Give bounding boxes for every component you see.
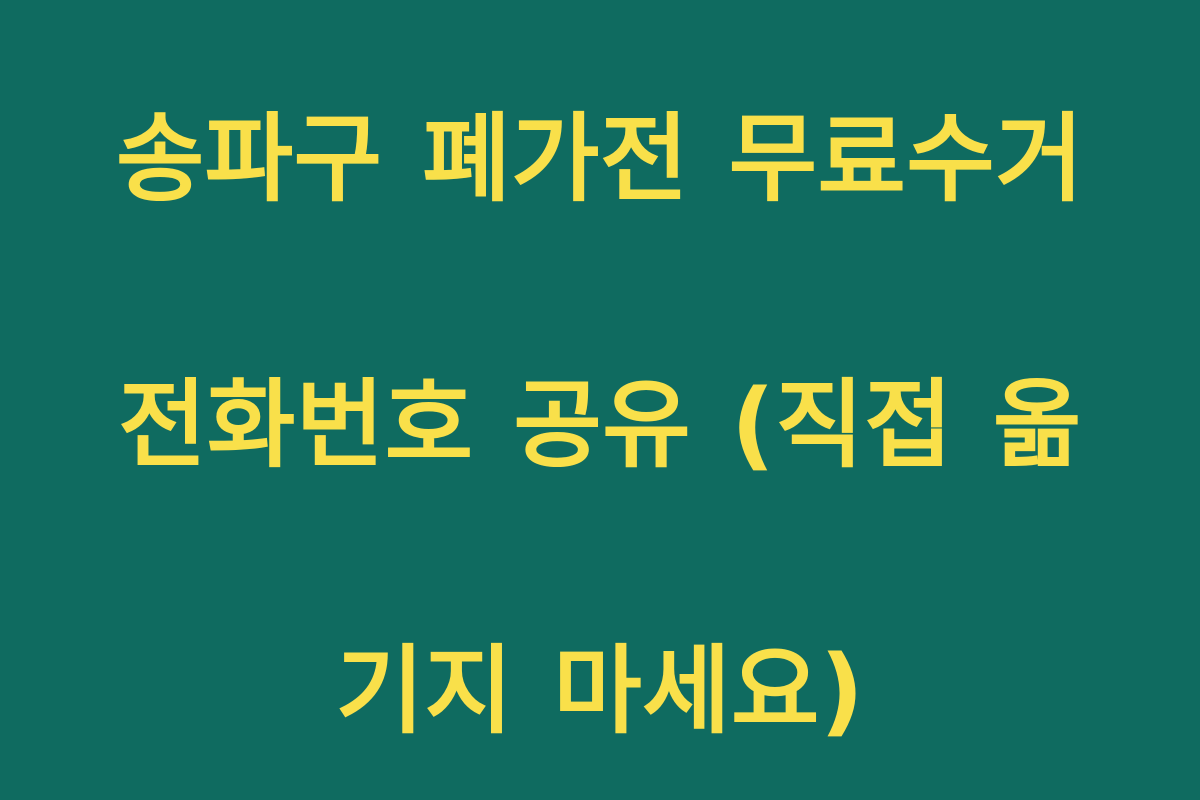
headline-line-1: 송파구 폐가전 무료수거 — [85, 93, 1115, 226]
headline-line-2: 전화번호 공유 (직접 옮 — [85, 359, 1115, 492]
headline-line-3: 기지 마세요) — [85, 625, 1115, 758]
page-title: 송파구 폐가전 무료수거 전화번호 공유 (직접 옮 기지 마세요) — [85, 0, 1115, 800]
poster-canvas: 송파구 폐가전 무료수거 전화번호 공유 (직접 옮 기지 마세요) — [0, 0, 1200, 800]
